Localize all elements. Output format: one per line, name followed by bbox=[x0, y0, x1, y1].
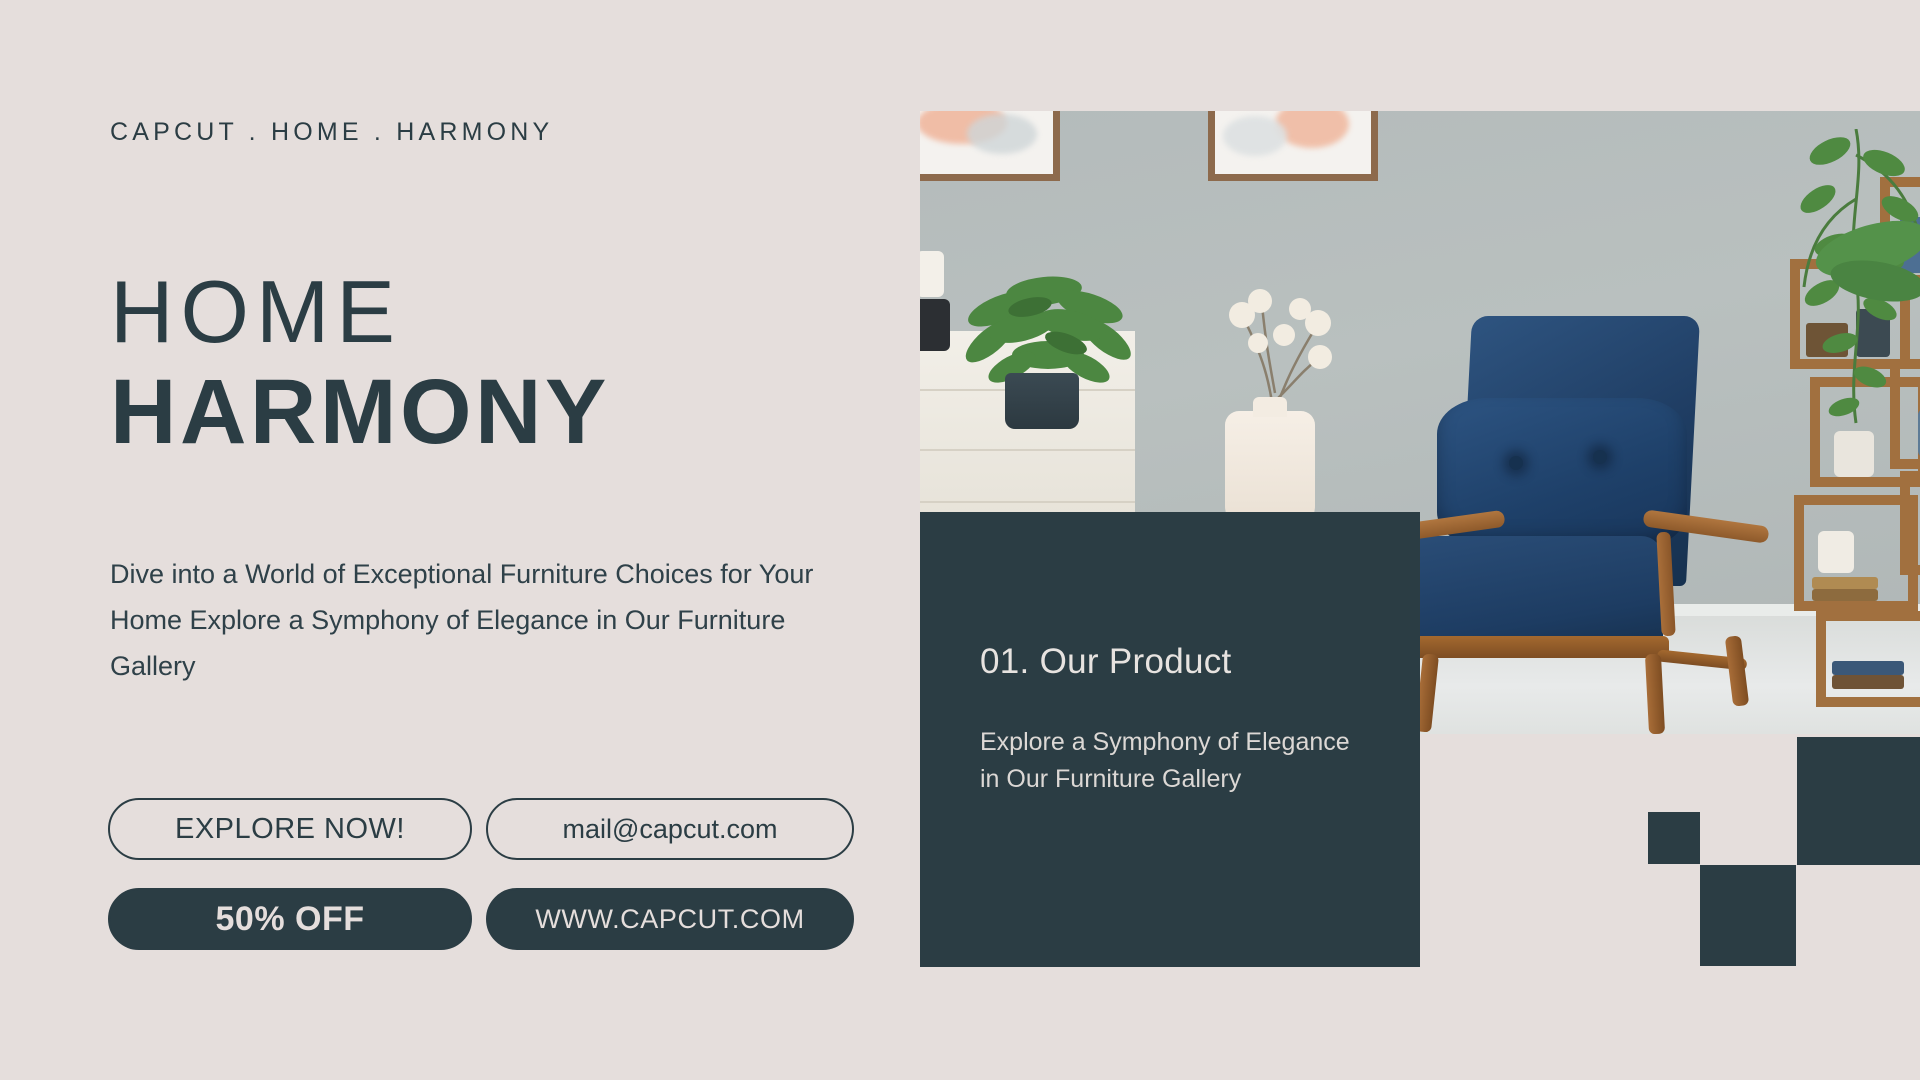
decor-square-small bbox=[1648, 812, 1700, 864]
monstera-leaf bbox=[1808, 197, 1920, 317]
shelf-vase-small bbox=[1818, 531, 1854, 573]
page-title-line1: HOME bbox=[110, 268, 610, 356]
navy-armchair bbox=[1385, 306, 1805, 734]
shelf-box-7 bbox=[1816, 611, 1920, 707]
email-button[interactable]: mail@capcut.com bbox=[486, 798, 854, 860]
shelf-book-4 bbox=[1832, 675, 1904, 689]
candle-holder bbox=[920, 251, 950, 351]
chair-leg-back-right bbox=[1725, 635, 1749, 706]
product-card-body: Explore a Symphony of Elegance in Our Fu… bbox=[980, 724, 1360, 798]
shelf-box-6 bbox=[1900, 471, 1920, 575]
primary-button-row: EXPLORE NOW! mail@capcut.com bbox=[108, 798, 854, 860]
shelf-book-1 bbox=[1812, 577, 1878, 589]
explore-now-button[interactable]: EXPLORE NOW! bbox=[108, 798, 472, 860]
decor-square-large bbox=[1797, 737, 1920, 865]
page-title: HOME HARMONY bbox=[110, 268, 610, 458]
discount-badge-button[interactable]: 50% OFF bbox=[108, 888, 472, 950]
product-card-title: 01. Our Product bbox=[980, 642, 1232, 682]
product-card: 01. Our Product Explore a Symphony of El… bbox=[920, 512, 1420, 967]
framed-art-right bbox=[1208, 111, 1378, 181]
page-title-line2: HARMONY bbox=[110, 366, 610, 458]
website-button[interactable]: WWW.CAPCUT.COM bbox=[486, 888, 854, 950]
framed-art-left bbox=[920, 111, 1060, 181]
plant-pot-dark bbox=[1005, 373, 1079, 429]
chair-front-rail bbox=[1403, 636, 1669, 658]
hero-description: Dive into a World of Exceptional Furnitu… bbox=[110, 551, 845, 689]
secondary-button-row: 50% OFF WWW.CAPCUT.COM bbox=[108, 888, 854, 950]
breadcrumb: CAPCUT . HOME . HARMONY bbox=[110, 118, 553, 147]
shelf-book-2 bbox=[1812, 589, 1878, 601]
hero-left-column: CAPCUT . HOME . HARMONY HOME HARMONY Div… bbox=[0, 0, 920, 1080]
chair-seat bbox=[1413, 536, 1663, 646]
chair-leg-front-right bbox=[1645, 654, 1665, 734]
shelf-book-3 bbox=[1832, 661, 1904, 675]
decor-square-medium bbox=[1700, 865, 1796, 966]
shelf-pot-white bbox=[1834, 431, 1874, 477]
